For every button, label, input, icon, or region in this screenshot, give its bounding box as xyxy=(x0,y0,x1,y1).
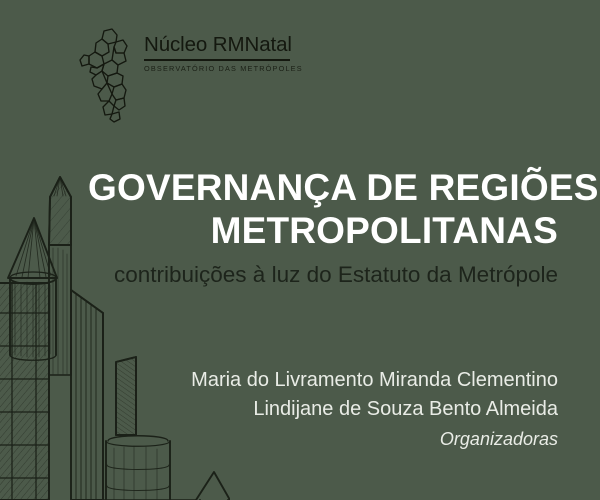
logo-tagline: OBSERVATÓRIO DAS METRÓPOLES xyxy=(144,64,294,73)
title-block: GOVERNANÇA DE REGIÕES METROPOLITANAS con… xyxy=(88,166,558,289)
author-name-1: Maria do Livramento Miranda Clementino xyxy=(88,366,558,395)
book-cover: Núcleo RMNatal OBSERVATÓRIO DAS METRÓPOL… xyxy=(0,0,600,500)
page-subtitle: contribuições à luz do Estatuto da Metró… xyxy=(88,260,558,289)
logo-text: Núcleo RMNatal OBSERVATÓRIO DAS METRÓPOL… xyxy=(144,34,294,73)
logo-divider xyxy=(144,59,290,61)
page-title-line-2: METROPOLITANAS xyxy=(88,209,558,252)
author-block: Maria do Livramento Miranda Clementino L… xyxy=(88,366,558,453)
rmnatal-map-icon xyxy=(78,26,140,124)
logo: Núcleo RMNatal OBSERVATÓRIO DAS METRÓPOL… xyxy=(78,26,293,124)
logo-name: Núcleo RMNatal xyxy=(144,34,294,57)
page-title-line-1: GOVERNANÇA DE REGIÕES xyxy=(88,166,558,209)
author-name-2: Lindijane de Souza Bento Almeida xyxy=(88,395,558,424)
author-role: Organizadoras xyxy=(88,426,558,453)
